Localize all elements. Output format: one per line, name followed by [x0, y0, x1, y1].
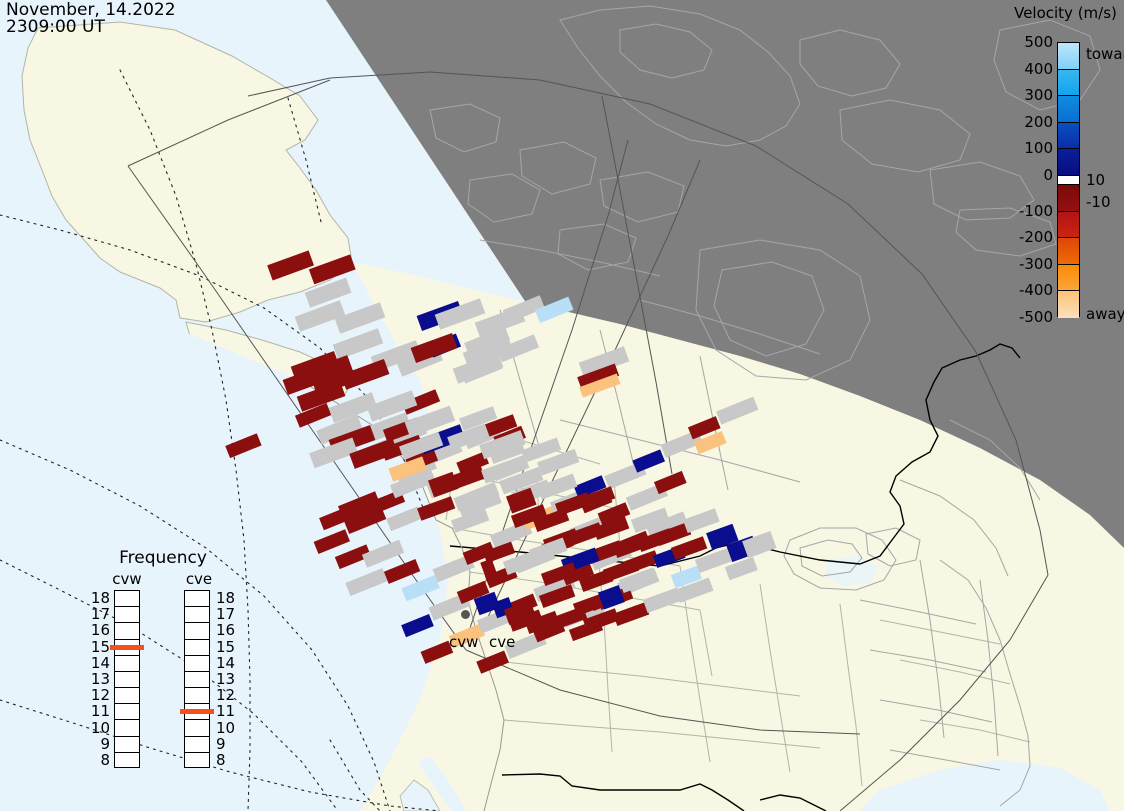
frequency-scale-row — [115, 672, 139, 688]
frequency-scale — [114, 590, 140, 768]
frequency-scale-row — [115, 704, 139, 720]
colorbar-segment — [1058, 185, 1079, 212]
frequency-channel-name: cve — [176, 570, 222, 588]
frequency-scale-row — [185, 753, 209, 769]
time-text: 2309:00 UT — [6, 19, 176, 36]
frequency-scale-row — [185, 656, 209, 672]
velocity-colorbar: Velocity (m/s) 5004003002001000-100-200-… — [1007, 2, 1124, 332]
colorbar-tick-label: 400 — [1024, 60, 1053, 78]
colorbar-tick-label: 0 — [1043, 166, 1053, 184]
frequency-scale-row — [185, 720, 209, 736]
colorbar-tick-label: 200 — [1024, 113, 1053, 131]
colorbar-segment — [1058, 238, 1079, 265]
colorbar-inner-low-label: -10 — [1086, 193, 1111, 211]
colorbar-segment — [1058, 176, 1079, 185]
radar-map-screenshot: November, 14.2022 2309:00 UT Velocity (m… — [0, 0, 1124, 811]
frequency-value-marker — [180, 709, 214, 714]
frequency-scale-row — [115, 737, 139, 753]
colorbar-segment — [1058, 149, 1079, 176]
colorbar-tick-label: -400 — [1019, 281, 1053, 299]
frequency-legend: Frequency cvw 18171615141312111098 cve 1… — [88, 548, 238, 788]
colorbar-away-label: away — [1086, 305, 1124, 323]
colorbar-tick-label: -500 — [1019, 308, 1053, 326]
timestamp-block: November, 14.2022 2309:00 UT — [6, 2, 176, 36]
frequency-tick-label: 8 — [216, 751, 226, 769]
colorbar-inner-high-label: 10 — [1086, 171, 1105, 189]
frequency-tick-label: 8 — [88, 751, 110, 769]
frequency-scale-row — [185, 591, 209, 607]
frequency-scale-row — [185, 640, 209, 656]
frequency-scale-row — [185, 607, 209, 623]
colorbar-tick-label: -200 — [1019, 228, 1053, 246]
colorbar-title: Velocity (m/s) — [1007, 4, 1124, 22]
colorbar-segment — [1058, 43, 1079, 70]
colorbar-tick-label: 100 — [1024, 139, 1053, 157]
radar-site-marker[interactable] — [461, 610, 470, 619]
frequency-title: Frequency — [88, 548, 238, 568]
colorbar-gradient — [1057, 42, 1080, 317]
frequency-scale-row — [185, 737, 209, 753]
colorbar-tick-label: 500 — [1024, 33, 1053, 51]
colorbar-segment — [1058, 96, 1079, 123]
frequency-scale — [184, 590, 210, 768]
frequency-scale-row — [115, 591, 139, 607]
colorbar-tick-label: -300 — [1019, 255, 1053, 273]
frequency-scale-row — [185, 672, 209, 688]
frequency-scale-row — [115, 656, 139, 672]
frequency-value-marker — [110, 645, 144, 650]
colorbar-segment — [1058, 212, 1079, 239]
colorbar-segment — [1058, 291, 1079, 318]
frequency-scale-row — [185, 623, 209, 639]
colorbar-segment — [1058, 123, 1079, 150]
frequency-scale-row — [115, 720, 139, 736]
frequency-scale-row — [115, 688, 139, 704]
frequency-channel-name: cvw — [104, 570, 150, 588]
frequency-scale-row — [185, 688, 209, 704]
frequency-scale-row — [115, 623, 139, 639]
colorbar-toward-label: toward — [1086, 45, 1124, 63]
radar-site-label-cve: cve — [489, 633, 515, 651]
frequency-scale-row — [115, 607, 139, 623]
radar-site-label-cvw: cvw — [449, 633, 478, 651]
frequency-scale-row — [115, 753, 139, 769]
colorbar-tick-label: -100 — [1019, 202, 1053, 220]
colorbar-segment — [1058, 265, 1079, 292]
colorbar-tick-label: 300 — [1024, 86, 1053, 104]
colorbar-segment — [1058, 70, 1079, 97]
